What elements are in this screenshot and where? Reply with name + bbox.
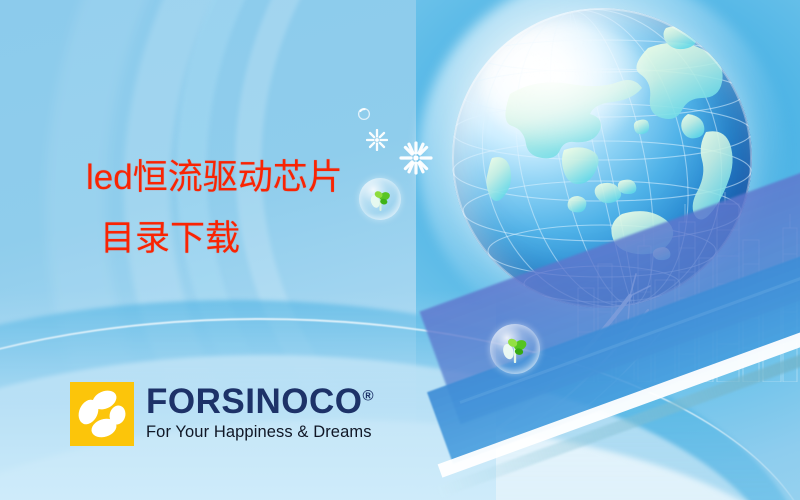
brand-logo[interactable]: FORSINOCO® For Your Happiness & Dreams: [70, 382, 374, 446]
registered-trademark-icon: ®: [362, 387, 374, 404]
sparkle-tiny: [357, 107, 371, 121]
pinwheel-logo-mark: [70, 382, 134, 446]
brand-wordmark: FORSINOCO®: [146, 384, 374, 419]
four-petal-pinwheel-icon: [70, 382, 134, 446]
sprout-icon-upper: [369, 188, 392, 211]
promo-banner: led恒流驱动芯片 目录下载 FORSINOCO® For Your Happi…: [0, 0, 800, 500]
sparkle-large: [399, 141, 433, 175]
brand-name: FORSINOCO: [146, 382, 362, 421]
bubble-with-sprout-upper: [359, 178, 401, 220]
bubble-with-sprout-lower: [490, 324, 540, 374]
brand-tagline: For Your Happiness & Dreams: [146, 423, 374, 442]
sparkle-small: [366, 129, 388, 151]
logo-text-block: FORSINOCO® For Your Happiness & Dreams: [146, 382, 374, 442]
headline: led恒流驱动芯片 目录下载: [86, 160, 343, 256]
headline-line-2: 目录下载: [100, 221, 343, 256]
headline-line-1: led恒流驱动芯片: [86, 158, 343, 197]
sprout-icon-lower: [501, 335, 529, 363]
